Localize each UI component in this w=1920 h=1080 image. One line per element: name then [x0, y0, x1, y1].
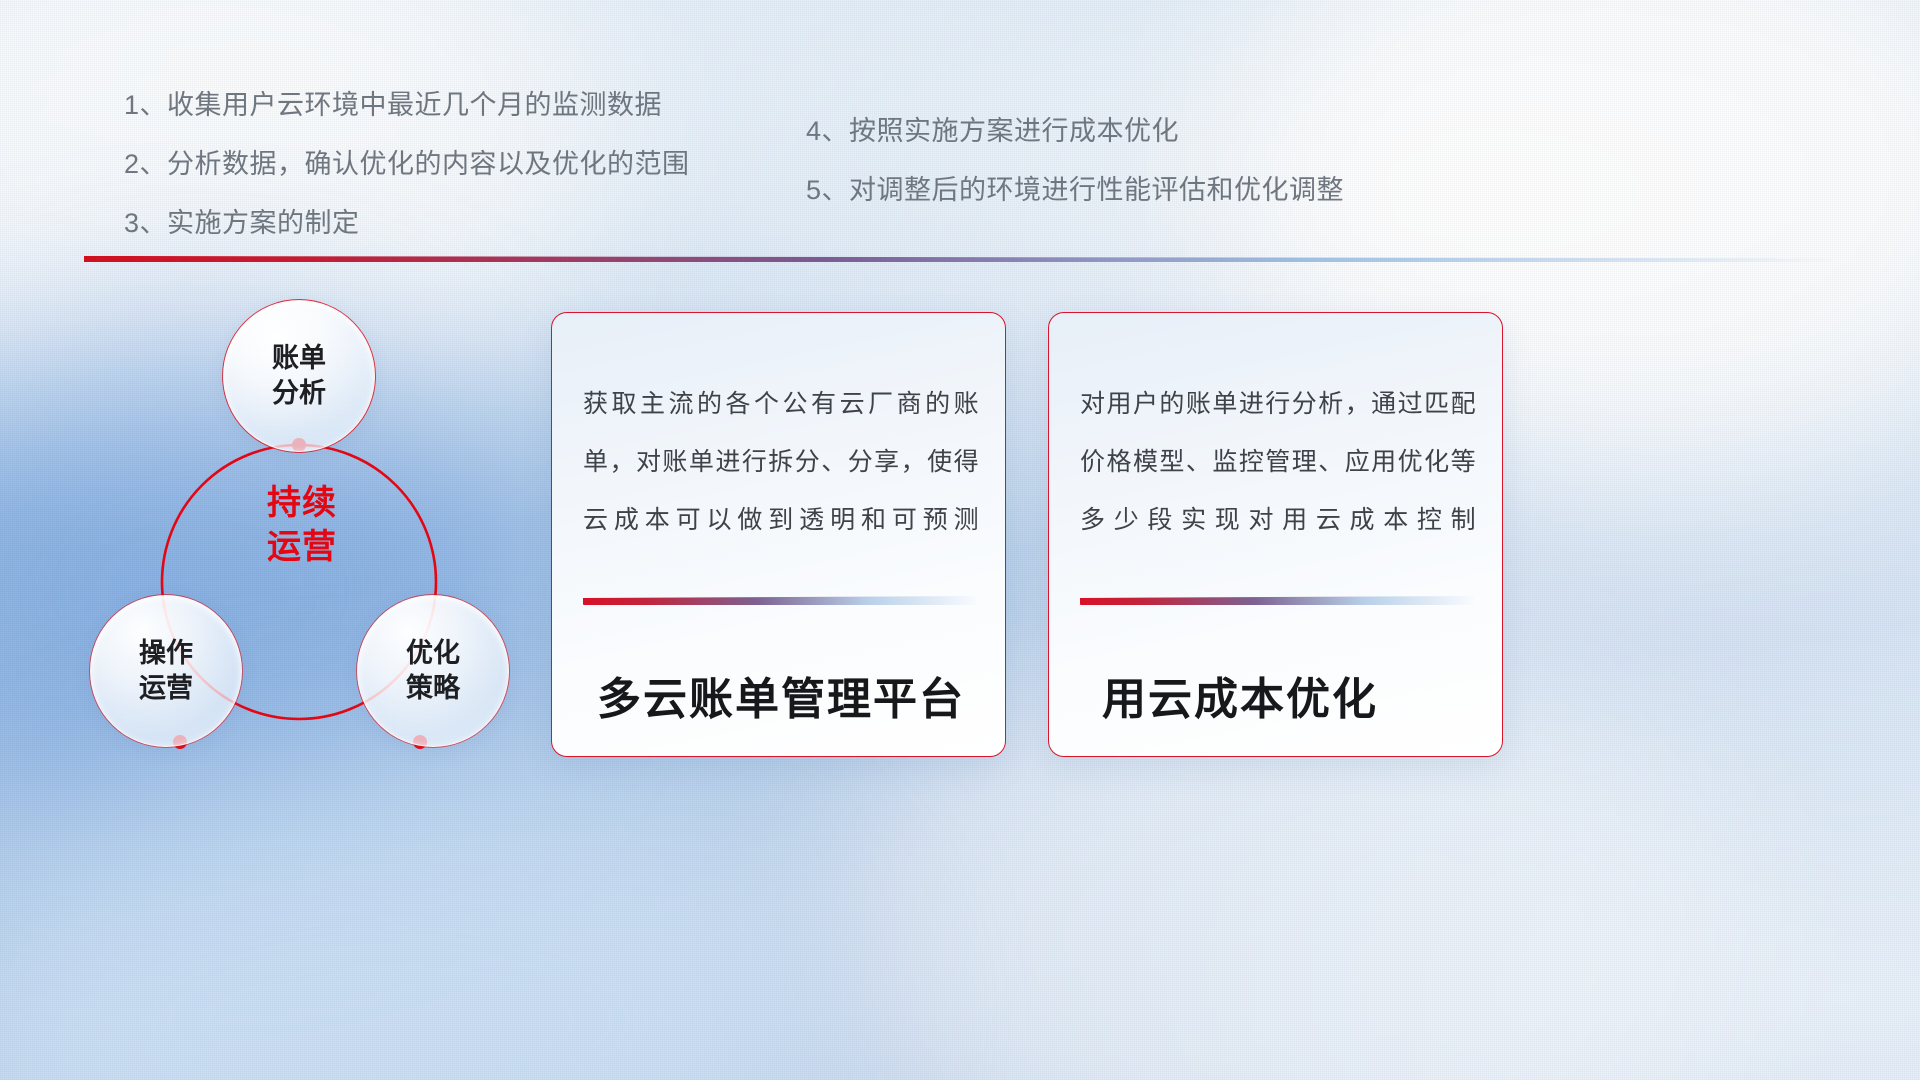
card-2-title: 用云成本优化	[1080, 663, 1476, 727]
venn-center-line1: 持续	[227, 482, 377, 526]
venn-center-label: 持续 运营	[227, 482, 377, 569]
step-item-5: 5、对调整后的环境进行性能评估和优化调整	[806, 177, 1344, 204]
venn-bubble-top-line2: 分析	[272, 376, 326, 411]
section-divider-rule	[84, 256, 1840, 262]
card-1-title: 多云账单管理平台	[583, 663, 979, 727]
step-item-2: 2、分析数据，确认优化的内容以及优化的范围	[124, 151, 690, 178]
venn-diagram: 账单 分析 操作 运营 优化 策略 持续 运营	[75, 292, 555, 772]
step-item-3: 3、实施方案的制定	[124, 210, 690, 237]
feature-card-billing-platform[interactable]: 获取主流的各个公有云厂商的账单，对账单进行拆分、分享，使得云成本可以做到透明和可…	[551, 312, 1006, 757]
venn-center-line2: 运营	[227, 526, 377, 570]
venn-bubble-left-line2: 运营	[139, 671, 193, 706]
card-2-divider	[1080, 596, 1476, 605]
venn-bubble-operations[interactable]: 操作 运营	[90, 595, 242, 747]
steps-list-right: 4、按照实施方案进行成本优化 5、对调整后的环境进行性能评估和优化调整	[806, 118, 1344, 236]
card-1-body: 获取主流的各个公有云厂商的账单，对账单进行拆分、分享，使得云成本可以做到透明和可…	[583, 375, 979, 549]
steps-list-left: 1、收集用户云环境中最近几个月的监测数据 2、分析数据，确认优化的内容以及优化的…	[124, 92, 690, 269]
card-2-body: 对用户的账单进行分析，通过匹配价格模型、监控管理、应用优化等多少段实现对用云成本…	[1080, 375, 1476, 549]
venn-bubble-right-line1: 优化	[406, 636, 460, 671]
card-1-divider	[583, 596, 979, 605]
feature-card-cost-optimization[interactable]: 对用户的账单进行分析，通过匹配价格模型、监控管理、应用优化等多少段实现对用云成本…	[1048, 312, 1503, 757]
step-item-1: 1、收集用户云环境中最近几个月的监测数据	[124, 92, 690, 119]
venn-bubble-right-line2: 策略	[406, 671, 460, 706]
step-item-4: 4、按照实施方案进行成本优化	[806, 118, 1344, 145]
venn-bubble-optimization-strategy[interactable]: 优化 策略	[357, 595, 509, 747]
venn-bubble-top-line1: 账单	[272, 341, 326, 376]
venn-bubble-left-line1: 操作	[139, 636, 193, 671]
venn-bubble-billing-analysis[interactable]: 账单 分析	[223, 300, 375, 452]
slide-content: 1、收集用户云环境中最近几个月的监测数据 2、分析数据，确认优化的内容以及优化的…	[0, 0, 1920, 1080]
